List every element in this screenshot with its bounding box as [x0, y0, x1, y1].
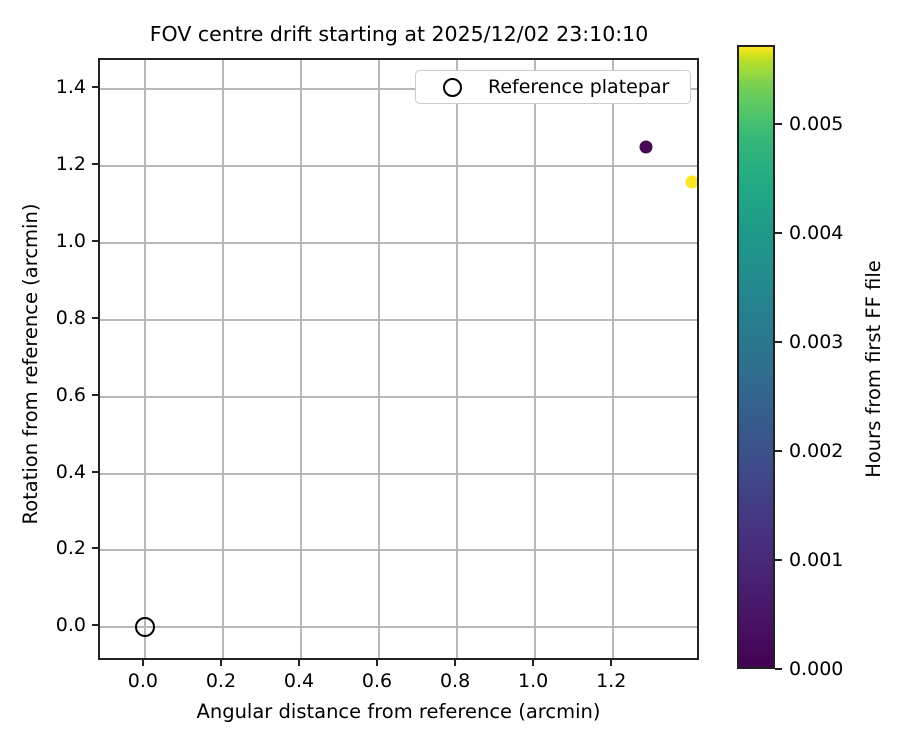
y-tick-mark	[92, 86, 98, 88]
gridline-horizontal	[100, 242, 697, 244]
scatter-point	[640, 141, 653, 154]
x-tick-label: 0.4	[284, 670, 314, 692]
colorbar-tick-label: 0.005	[789, 113, 843, 135]
gridline-vertical	[378, 60, 380, 658]
x-tick-mark	[298, 660, 300, 666]
colorbar-gradient	[737, 45, 775, 669]
colorbar-tick-label: 0.003	[789, 331, 843, 353]
x-axis-label: Angular distance from reference (arcmin)	[98, 700, 699, 724]
gridline-horizontal	[100, 319, 697, 321]
open-circle-icon	[443, 78, 462, 97]
gridline-vertical	[222, 60, 224, 658]
gridline-vertical	[144, 60, 146, 658]
y-tick-mark	[92, 163, 98, 165]
legend-box[interactable]: Reference platepar	[415, 70, 691, 104]
x-tick-mark	[220, 660, 222, 666]
y-tick-mark	[92, 547, 98, 549]
colorbar-tick-mark	[775, 559, 782, 561]
legend-marker-cell	[416, 78, 488, 97]
gridline-horizontal	[100, 549, 697, 551]
gridline-horizontal	[100, 473, 697, 475]
x-tick-label: 0.0	[128, 670, 158, 692]
colorbar-tick-label: 0.002	[789, 440, 843, 462]
colorbar-tick-mark	[775, 341, 782, 343]
gridline-vertical	[300, 60, 302, 658]
x-tick-label: 1.0	[518, 670, 548, 692]
page-title: FOV centre drift starting at 2025/12/02 …	[98, 22, 700, 46]
x-tick-mark	[532, 660, 534, 666]
colorbar-tick-label: 0.000	[789, 658, 843, 680]
gridline-vertical	[534, 60, 536, 658]
x-tick-label: 0.6	[362, 670, 392, 692]
y-tick-mark	[92, 471, 98, 473]
legend-item-label: Reference platepar	[488, 76, 669, 98]
gridline-vertical	[612, 60, 614, 658]
colorbar-tick-mark	[775, 123, 782, 125]
x-tick-mark	[610, 660, 612, 666]
gridline-horizontal	[100, 626, 697, 628]
x-tick-mark	[454, 660, 456, 666]
y-tick-mark	[92, 624, 98, 626]
y-tick-mark	[92, 317, 98, 319]
colorbar-tick-label: 0.004	[789, 222, 843, 244]
figure-canvas: FOV centre drift starting at 2025/12/02 …	[0, 0, 900, 750]
colorbar-tick-mark	[775, 450, 782, 452]
colorbar-tick-mark	[775, 668, 782, 670]
colorbar	[737, 45, 775, 669]
colorbar-label: Hours from first FF file	[862, 57, 886, 681]
reference-platepar-marker	[135, 617, 155, 637]
colorbar-tick-mark	[775, 232, 782, 234]
x-tick-label: 1.2	[596, 670, 626, 692]
x-tick-mark	[376, 660, 378, 666]
colorbar-tick-label: 0.001	[789, 549, 843, 571]
y-axis-label: Rotation from reference (arcmin)	[19, 63, 43, 665]
y-tick-mark	[92, 240, 98, 242]
gridline-vertical	[456, 60, 458, 658]
x-tick-label: 0.2	[206, 670, 236, 692]
y-tick-mark	[92, 394, 98, 396]
scatter-point	[686, 176, 699, 189]
x-tick-label: 0.8	[440, 670, 470, 692]
x-tick-mark	[142, 660, 144, 666]
gridline-horizontal	[100, 396, 697, 398]
gridline-horizontal	[100, 165, 697, 167]
plot-axes-area	[98, 58, 699, 660]
